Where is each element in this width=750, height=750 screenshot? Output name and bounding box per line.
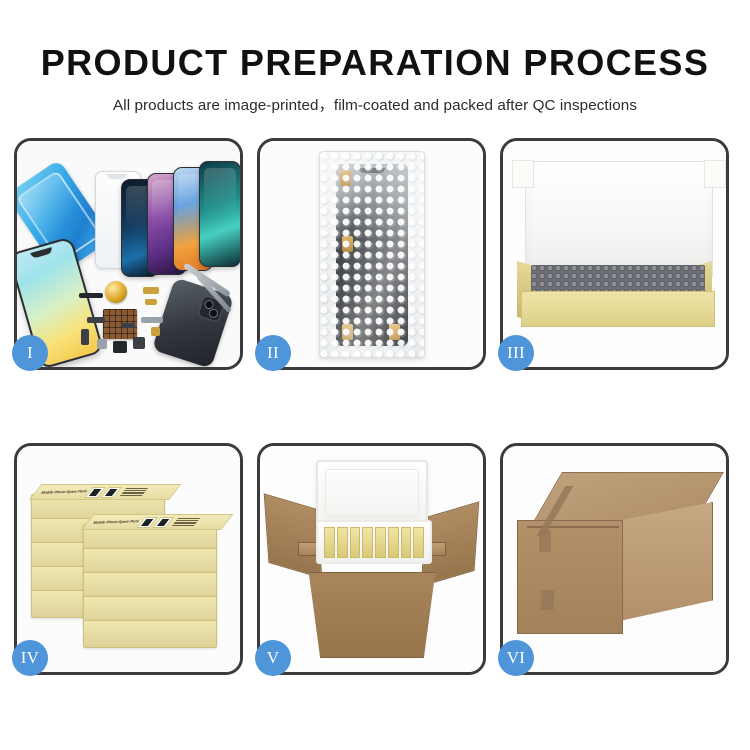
taptic-coil-icon xyxy=(105,281,127,303)
step-1-image xyxy=(17,141,240,367)
stacked-box xyxy=(83,620,217,648)
box-label-lines xyxy=(120,488,148,496)
process-step-1[interactable]: I Phone LCD screens, tempered glass and … xyxy=(14,138,243,370)
box-lid-open xyxy=(525,161,713,278)
process-step-4[interactable]: Mobile Phone Spare Parts Mobile Pho xyxy=(14,443,243,675)
spare-part xyxy=(79,293,103,298)
box-label-lines xyxy=(172,518,200,526)
step-badge-5: V xyxy=(255,640,291,676)
step-6-caption: Sealed kraft carton ready for shipment xyxy=(503,446,504,447)
process-step-5[interactable]: V Boxes loaded into foam-lined shipping … xyxy=(257,443,486,675)
step-5-caption: Boxes loaded into foam-lined shipping ca… xyxy=(260,446,261,447)
step-2-caption: Single screen sealed in bubble wrap bag xyxy=(260,141,261,142)
poster-root: PRODUCT PREPARATION PROCESS All products… xyxy=(0,0,750,750)
step-badge-3: III xyxy=(498,335,534,371)
carton-flap-left xyxy=(264,493,323,578)
box-front-panel xyxy=(521,291,715,327)
inner-boxes-row xyxy=(324,527,424,558)
process-grid: I Phone LCD screens, tempered glass and … xyxy=(14,138,736,675)
box-label-text: Mobile Phone Spare Parts xyxy=(40,489,89,495)
carton-tape xyxy=(539,530,551,552)
carton-front-face xyxy=(517,520,623,634)
step-badge-4: IV xyxy=(12,640,48,676)
spare-part xyxy=(81,329,89,345)
spare-part xyxy=(141,317,163,323)
box-label: Mobile Phone Spare Parts xyxy=(37,486,166,498)
process-step-3[interactable]: III Bubble-wrapped item placed into yell… xyxy=(500,138,729,370)
step-4-image: Mobile Phone Spare Parts Mobile Pho xyxy=(17,446,240,672)
phone-display-4 xyxy=(199,161,240,267)
process-step-6[interactable]: VI Sealed kraft carton ready for shipmen… xyxy=(500,443,729,675)
plastic-sheen xyxy=(320,152,424,357)
header: PRODUCT PREPARATION PROCESS All products… xyxy=(0,0,750,115)
process-step-2[interactable]: II Single screen sealed in bubble wrap b… xyxy=(257,138,486,370)
spare-part xyxy=(113,341,127,353)
box-stack: Mobile Phone Spare Parts Mobile Pho xyxy=(31,468,231,658)
spare-part xyxy=(151,327,160,336)
step-1-caption: Phone LCD screens, tempered glass and sp… xyxy=(17,141,18,142)
box-label-text: Mobile Phone Spare Parts xyxy=(92,519,141,525)
spare-part xyxy=(87,317,105,323)
spare-part xyxy=(97,339,107,349)
step-2-image xyxy=(260,141,483,367)
step-badge-1: I xyxy=(12,335,48,371)
spare-part xyxy=(143,287,159,294)
step-3-caption: Bubble-wrapped item placed into yellow i… xyxy=(503,141,504,142)
step-5-image xyxy=(260,446,483,672)
bubble-wrap-bag-icon xyxy=(319,151,425,358)
step-4-caption: Stack of printed yellow spare part boxes xyxy=(17,446,18,447)
spare-part xyxy=(133,337,145,349)
sealed-carton-icon xyxy=(517,472,713,640)
foam-tray xyxy=(316,520,432,564)
carton-side-face xyxy=(615,502,713,622)
step-6-image xyxy=(503,446,726,672)
spare-part xyxy=(145,299,157,305)
spare-part xyxy=(121,323,135,328)
step-badge-6: VI xyxy=(498,640,534,676)
carton-body xyxy=(300,572,444,658)
page-title: PRODUCT PREPARATION PROCESS xyxy=(0,0,750,83)
box-label: Mobile Phone Spare Parts xyxy=(89,516,218,528)
page-subtitle: All products are image-printed，film-coat… xyxy=(0,83,750,115)
phone-fan-group xyxy=(121,159,240,277)
step-badge-2: II xyxy=(255,335,291,371)
step-3-image xyxy=(503,141,726,367)
carton-tape xyxy=(541,590,554,610)
foam-lid-icon xyxy=(316,460,428,526)
